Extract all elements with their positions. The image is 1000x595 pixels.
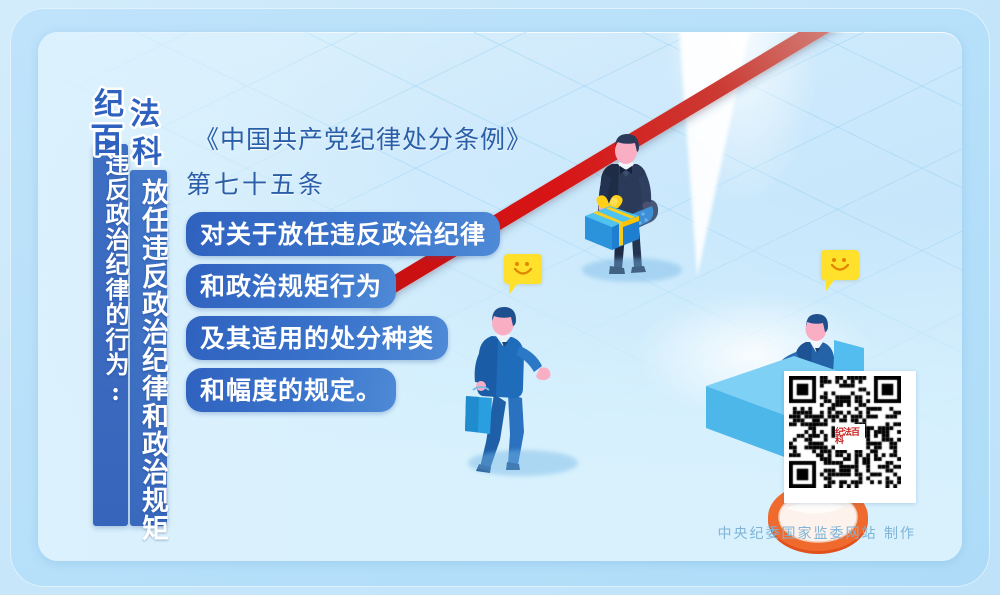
character-bag-carrier-shadow: [468, 450, 578, 476]
smiley-bubble-right: [821, 250, 859, 280]
vertical-headline-inner: 放任违反政治纪律和政治规矩: [131, 178, 166, 542]
credit-text: 中央纪委国家监委网站 制作: [718, 523, 916, 543]
regulation-title: 《中国共产党纪律处分条例》: [194, 120, 606, 156]
article-number: 第七十五条: [186, 165, 606, 201]
qr-code[interactable]: 纪法百科: [784, 371, 916, 503]
poster-canvas: 纪 纪 法 法 百 百 科 科: [0, 0, 1000, 595]
content-chip: 和政治规矩行为: [186, 264, 396, 308]
smiley-face-icon: [511, 259, 535, 279]
poster-frame-outer: 纪 纪 法 法 百 百 科 科: [10, 8, 990, 587]
smiley-face-icon: [828, 255, 852, 275]
main-text-block: 《中国共产党纪律处分条例》 第七十五条 对关于放任违反政治纪律 和政治规矩行为 …: [186, 120, 606, 420]
content-chip: 及其适用的处分种类: [186, 316, 448, 360]
illustration-stage: 纪 纪 法 法 百 百 科 科: [38, 32, 962, 561]
brand-logo: 纪 纪 法 法 百 百 科 科: [86, 80, 182, 174]
qr-center-logo: 纪法百科: [835, 424, 865, 450]
brand-logo-icon: 纪 纪 法 法 百 百 科 科: [86, 80, 182, 174]
poster-frame-inner: 纪 纪 法 法 百 百 科 科: [38, 32, 962, 561]
qr-center-logo-text: 纪法百科: [835, 429, 865, 445]
vertical-headline-outer: 违反政治纪律的行为:: [94, 152, 127, 407]
svg-text:科: 科: [132, 135, 162, 170]
content-chip: 和幅度的规定。: [186, 368, 396, 412]
svg-text:纪: 纪: [94, 87, 124, 122]
chip-list: 对关于放任违反政治纪律 和政治规矩行为 及其适用的处分种类 和幅度的规定。: [186, 212, 606, 420]
smiley-bubble-left: [504, 254, 542, 284]
svg-text:法: 法: [130, 97, 160, 132]
content-chip: 对关于放任违反政治纪律: [186, 212, 500, 256]
